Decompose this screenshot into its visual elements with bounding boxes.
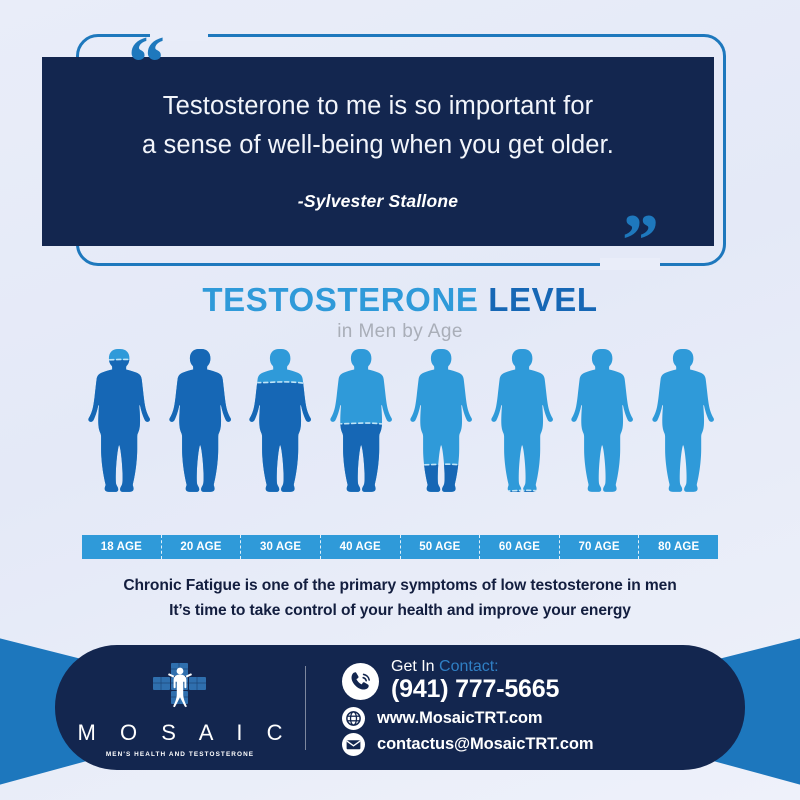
quote-author: -Sylvester Stallone <box>42 191 714 212</box>
age-cell-5: 60 AGE <box>480 535 560 559</box>
brand-block: M O S A I C MEN'S HEALTH AND TESTOSTERON… <box>55 658 305 758</box>
age-axis-bar: 18 AGE20 AGE30 AGE40 AGE50 AGE60 AGE70 A… <box>82 535 718 559</box>
body-figure <box>646 345 718 532</box>
age-cell-2: 30 AGE <box>241 535 321 559</box>
title-section: TESTOSTERONE LEVEL in Men by Age <box>0 281 800 343</box>
brand-name: M O S A I C <box>69 720 292 746</box>
contact-email-row[interactable]: contactus@MosaicTRT.com <box>342 733 745 756</box>
phone-icon <box>342 663 379 700</box>
message-line-2: It’s time to take control of your health… <box>0 598 800 623</box>
body-figure <box>485 345 557 532</box>
brand-tagline: MEN'S HEALTH AND TESTOSTERONE <box>106 751 254 758</box>
quote-line-2: a sense of well-being when you get older… <box>42 126 714 165</box>
message-line-1: Chronic Fatigue is one of the primary sy… <box>0 573 800 598</box>
age-cell-7: 80 AGE <box>639 535 718 559</box>
body-figure <box>243 345 315 532</box>
age-cell-0: 18 AGE <box>82 535 162 559</box>
contact-phone-row[interactable]: Get In Contact: (941) 777-5665 <box>342 659 745 703</box>
age-cell-4: 50 AGE <box>401 535 481 559</box>
body-figure <box>404 345 476 532</box>
body-figure-chart <box>82 345 718 532</box>
page-subtitle: in Men by Age <box>0 321 800 343</box>
age-cell-6: 70 AGE <box>560 535 640 559</box>
title-word-testosterone: TESTOSTERONE <box>202 281 478 318</box>
body-figure <box>82 345 154 532</box>
contact-block: Get In Contact: (941) 777-5665 www.Mosai… <box>306 659 745 755</box>
open-quote-mark: “ <box>128 26 163 100</box>
age-cell-3: 40 AGE <box>321 535 401 559</box>
close-quote-mark: ” <box>622 204 657 278</box>
get-in-contact-label: Get In Contact: <box>391 659 559 676</box>
get-in-text: Get In <box>391 658 439 675</box>
contact-website-row[interactable]: www.MosaicTRT.com <box>342 707 745 730</box>
infographic-poster: “ ” Testosterone to me is so important f… <box>0 0 800 800</box>
phone-number[interactable]: (941) 777-5665 <box>391 676 559 704</box>
mosaic-logo-icon <box>151 662 209 714</box>
age-cell-1: 20 AGE <box>162 535 242 559</box>
globe-icon <box>342 707 365 730</box>
body-figure <box>565 345 637 532</box>
page-title: TESTOSTERONE LEVEL <box>0 281 800 319</box>
email-address[interactable]: contactus@MosaicTRT.com <box>377 735 593 754</box>
footer-bar: M O S A I C MEN'S HEALTH AND TESTOSTERON… <box>55 645 745 770</box>
message-section: Chronic Fatigue is one of the primary sy… <box>0 573 800 624</box>
body-figure <box>324 345 396 532</box>
body-figure <box>163 345 235 532</box>
envelope-icon <box>342 733 365 756</box>
website-url[interactable]: www.MosaicTRT.com <box>377 709 542 728</box>
contact-word: Contact: <box>439 658 499 675</box>
title-word-level: LEVEL <box>488 281 597 318</box>
quote-section: “ ” Testosterone to me is so important f… <box>0 0 800 290</box>
